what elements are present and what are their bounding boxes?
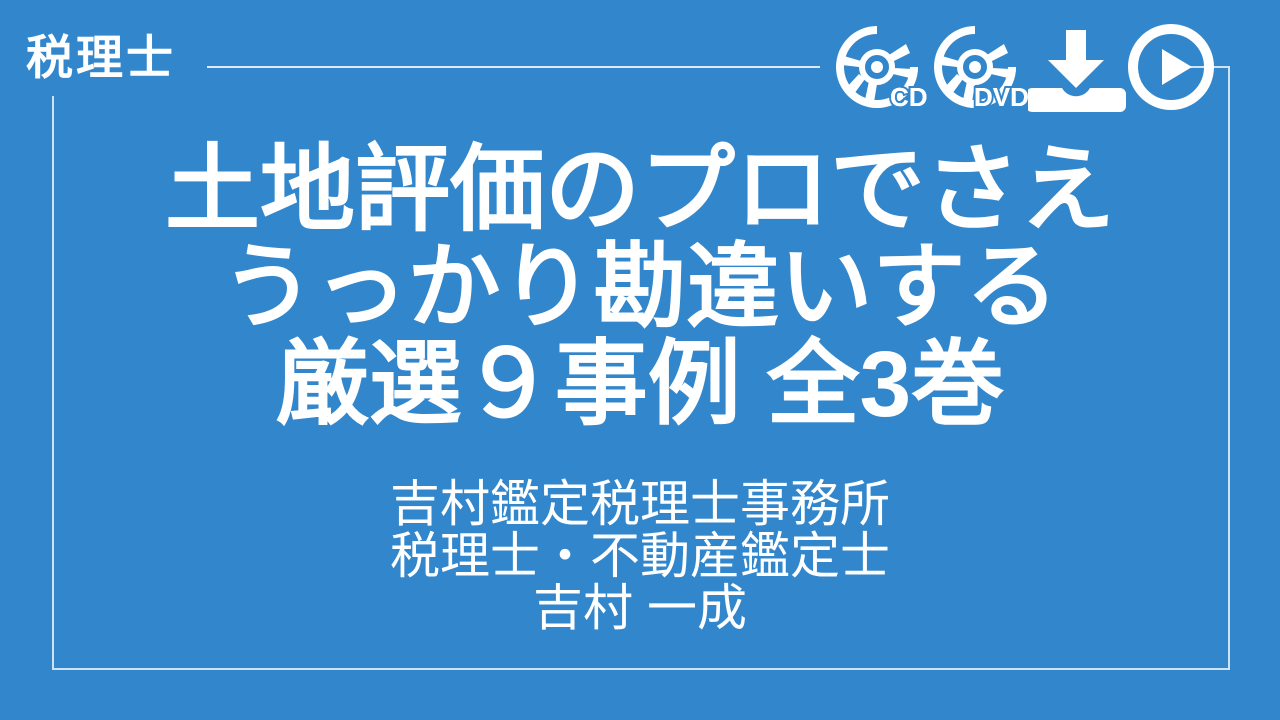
presenter-credentials: 税理士・不動産鑑定士 <box>0 530 1280 582</box>
frame-border-bottom <box>52 668 1230 670</box>
title-slide: 税理士 C <box>0 0 1280 720</box>
cd-disc-icon: CD CD <box>832 22 930 114</box>
title-line-2: うっかり勘違いする <box>0 239 1280 336</box>
category-label-rule <box>207 66 820 68</box>
presenter-office: 吉村鑑定税理士事務所 <box>0 478 1280 530</box>
svg-text:CD: CD <box>890 82 928 112</box>
title-line-3: 厳選９事例 全3巻 <box>0 336 1280 433</box>
presenter-name: 吉村 一成 <box>0 582 1280 634</box>
download-icon <box>1028 22 1126 114</box>
main-title: 土地評価のプロでさえ うっかり勘違いする 厳選９事例 全3巻 <box>0 142 1280 433</box>
category-label: 税理士 <box>26 30 176 86</box>
presenter-info: 吉村鑑定税理士事務所 税理士・不動産鑑定士 吉村 一成 <box>0 478 1280 634</box>
svg-text:DVD: DVD <box>974 82 1028 112</box>
title-line-1: 土地評価のプロでさえ <box>0 142 1280 239</box>
dvd-disc-icon: DVD DVD <box>930 22 1028 114</box>
media-format-icon-row: CD CD DVD DVD <box>832 22 1224 114</box>
play-circle-icon <box>1126 22 1224 114</box>
